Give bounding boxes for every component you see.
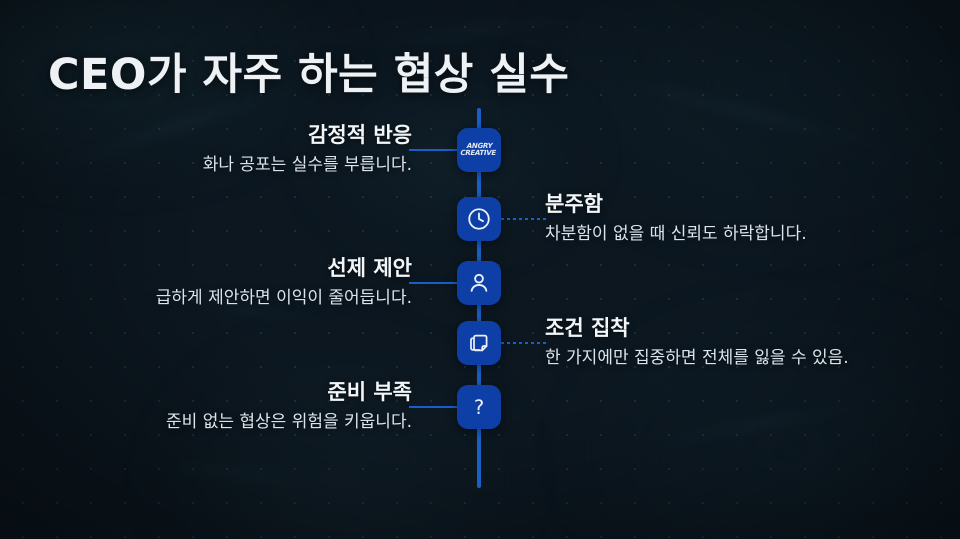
timeline-badge-clock-icon[interactable]: [457, 197, 501, 241]
connector-line: [501, 342, 549, 344]
connector-line: [409, 149, 457, 151]
clock-icon: [466, 206, 492, 232]
timeline: ANGRY CREATIVE 감정적 반응 화나 공포는 실수를 부릅니다. 분…: [0, 0, 960, 539]
timeline-item-title: 선제 제안: [156, 255, 412, 281]
timeline-text-block: 감정적 반응 화나 공포는 실수를 부릅니다.: [203, 122, 412, 178]
timeline-text-block: 준비 부족 준비 없는 협상은 위험을 키웁니다.: [166, 379, 412, 435]
timeline-text-block: 선제 제안 급하게 제안하면 이익이 줄어듭니다.: [156, 255, 412, 311]
timeline-text-block: 분주함 차분함이 없을 때 신뢰도 하락합니다.: [545, 191, 807, 247]
user-icon: [466, 270, 492, 296]
timeline-text-block: 조건 집착 한 가지에만 집중하면 전체를 잃을 수 있음.: [545, 315, 849, 371]
timeline-item-title: 분주함: [545, 191, 807, 217]
timeline-item-title: 조건 집착: [545, 315, 849, 341]
connector-line: [409, 406, 457, 408]
svg-text:?: ?: [474, 396, 484, 419]
timeline-badge-angry-emotion-logo-icon[interactable]: ANGRY CREATIVE: [457, 128, 501, 172]
timeline-item-desc: 화나 공포는 실수를 부릅니다.: [203, 152, 412, 178]
timeline-item-desc: 준비 없는 협상은 위험을 키웁니다.: [166, 409, 412, 435]
timeline-badge-copy-note-icon[interactable]: [457, 321, 501, 365]
copy-note-icon: [466, 330, 492, 356]
timeline-item-desc: 한 가지에만 집중하면 전체를 잃을 수 있음.: [545, 345, 849, 371]
timeline-item-title: 감정적 반응: [203, 122, 412, 148]
timeline-item-desc: 급하게 제안하면 이익이 줄어듭니다.: [156, 285, 412, 311]
question-mark-icon: ?: [466, 394, 492, 420]
timeline-item-desc: 차분함이 없을 때 신뢰도 하락합니다.: [545, 221, 807, 247]
timeline-badge-question-mark-icon[interactable]: ?: [457, 385, 501, 429]
timeline-badge-user-icon[interactable]: [457, 261, 501, 305]
connector-line: [501, 218, 549, 220]
timeline-item-title: 준비 부족: [166, 379, 412, 405]
angry-emotion-logo-icon: ANGRY CREATIVE: [460, 143, 498, 157]
connector-line: [409, 282, 457, 284]
